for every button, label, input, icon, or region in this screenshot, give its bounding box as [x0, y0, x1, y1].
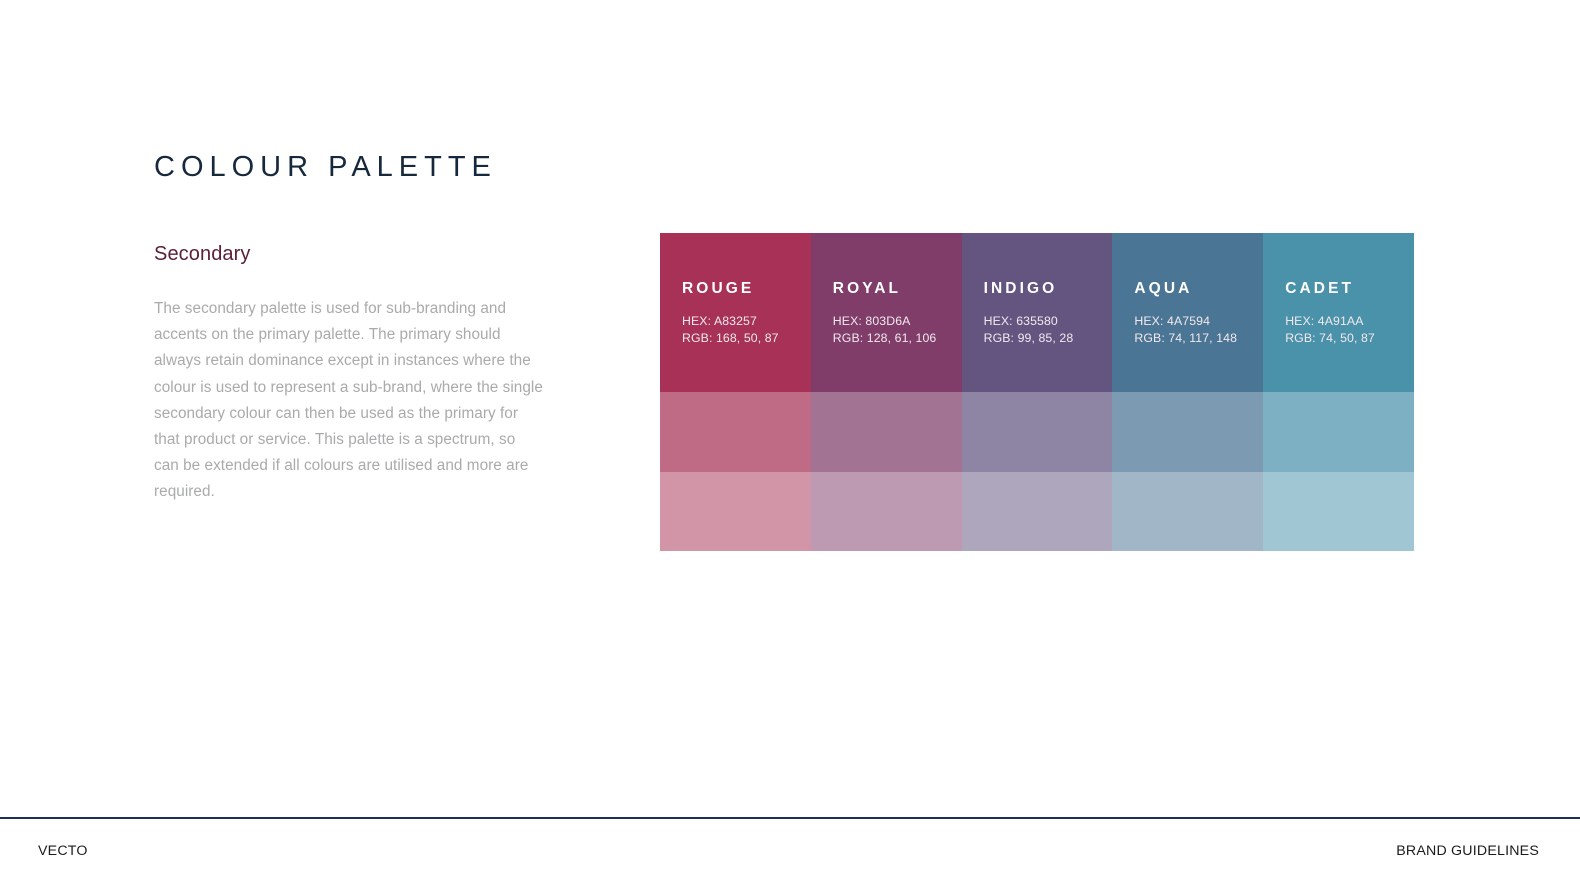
swatch-indigo-tint-2: [962, 472, 1113, 551]
swatch-values: HEX: 4A7594RGB: 74, 117, 148: [1134, 297, 1263, 347]
swatch-rouge: ROUGEHEX: A83257RGB: 168, 50, 87: [660, 233, 811, 392]
footer-divider: [0, 817, 1580, 819]
swatch-rgb-value: RGB: 168, 50, 87: [682, 330, 811, 347]
swatch-aqua-tint-2: [1112, 472, 1263, 551]
swatch-values: HEX: 803D6ARGB: 128, 61, 106: [833, 297, 962, 347]
body-paragraph: The secondary palette is used for sub-br…: [154, 265, 544, 506]
swatch-cadet-tint-1: [1263, 392, 1414, 472]
swatch-indigo: INDIGOHEX: 635580RGB: 99, 85, 28: [962, 233, 1113, 392]
swatch-values: HEX: 4A91AARGB: 74, 50, 87: [1285, 297, 1414, 347]
footer-brand-name: VECTO: [38, 843, 88, 859]
swatch-values: HEX: 635580RGB: 99, 85, 28: [984, 297, 1113, 347]
swatch-rouge-tint-2: [660, 472, 811, 551]
swatch-name: AQUA: [1134, 281, 1263, 297]
swatch-name: CADET: [1285, 281, 1414, 297]
swatch-hex-value: HEX: 4A91AA: [1285, 313, 1414, 330]
swatch-rgb-value: RGB: 128, 61, 106: [833, 330, 962, 347]
swatch-royal: ROYALHEX: 803D6ARGB: 128, 61, 106: [811, 233, 962, 392]
swatch-hex-value: HEX: 635580: [984, 313, 1113, 330]
swatch-cadet: CADETHEX: 4A91AARGB: 74, 50, 87: [1263, 233, 1414, 392]
footer-document-label: BRAND GUIDELINES: [1396, 843, 1539, 859]
swatch-rgb-value: RGB: 74, 50, 87: [1285, 330, 1414, 347]
swatch-hex-value: HEX: A83257: [682, 313, 811, 330]
swatch-rouge-tint-1: [660, 392, 811, 472]
swatch-cadet-tint-2: [1263, 472, 1414, 551]
text-column: COLOUR PALETTE Secondary The secondary p…: [154, 152, 554, 506]
swatch-name: ROYAL: [833, 281, 962, 297]
swatch-values: HEX: A83257RGB: 168, 50, 87: [682, 297, 811, 347]
page-title: COLOUR PALETTE: [154, 152, 554, 184]
swatch-hex-value: HEX: 803D6A: [833, 313, 962, 330]
section-subtitle: Secondary: [154, 184, 554, 265]
swatch-name: ROUGE: [682, 281, 811, 297]
swatch-hex-value: HEX: 4A7594: [1134, 313, 1263, 330]
swatch-aqua: AQUAHEX: 4A7594RGB: 74, 117, 148: [1112, 233, 1263, 392]
colour-palette-grid: ROUGEHEX: A83257RGB: 168, 50, 87ROYALHEX…: [660, 233, 1414, 551]
swatch-indigo-tint-1: [962, 392, 1113, 472]
swatch-royal-tint-2: [811, 472, 962, 551]
swatch-rgb-value: RGB: 74, 117, 148: [1134, 330, 1263, 347]
swatch-royal-tint-1: [811, 392, 962, 472]
swatch-aqua-tint-1: [1112, 392, 1263, 472]
swatch-rgb-value: RGB: 99, 85, 28: [984, 330, 1113, 347]
footer: VECTO BRAND GUIDELINES: [0, 843, 1580, 867]
swatch-name: INDIGO: [984, 281, 1113, 297]
